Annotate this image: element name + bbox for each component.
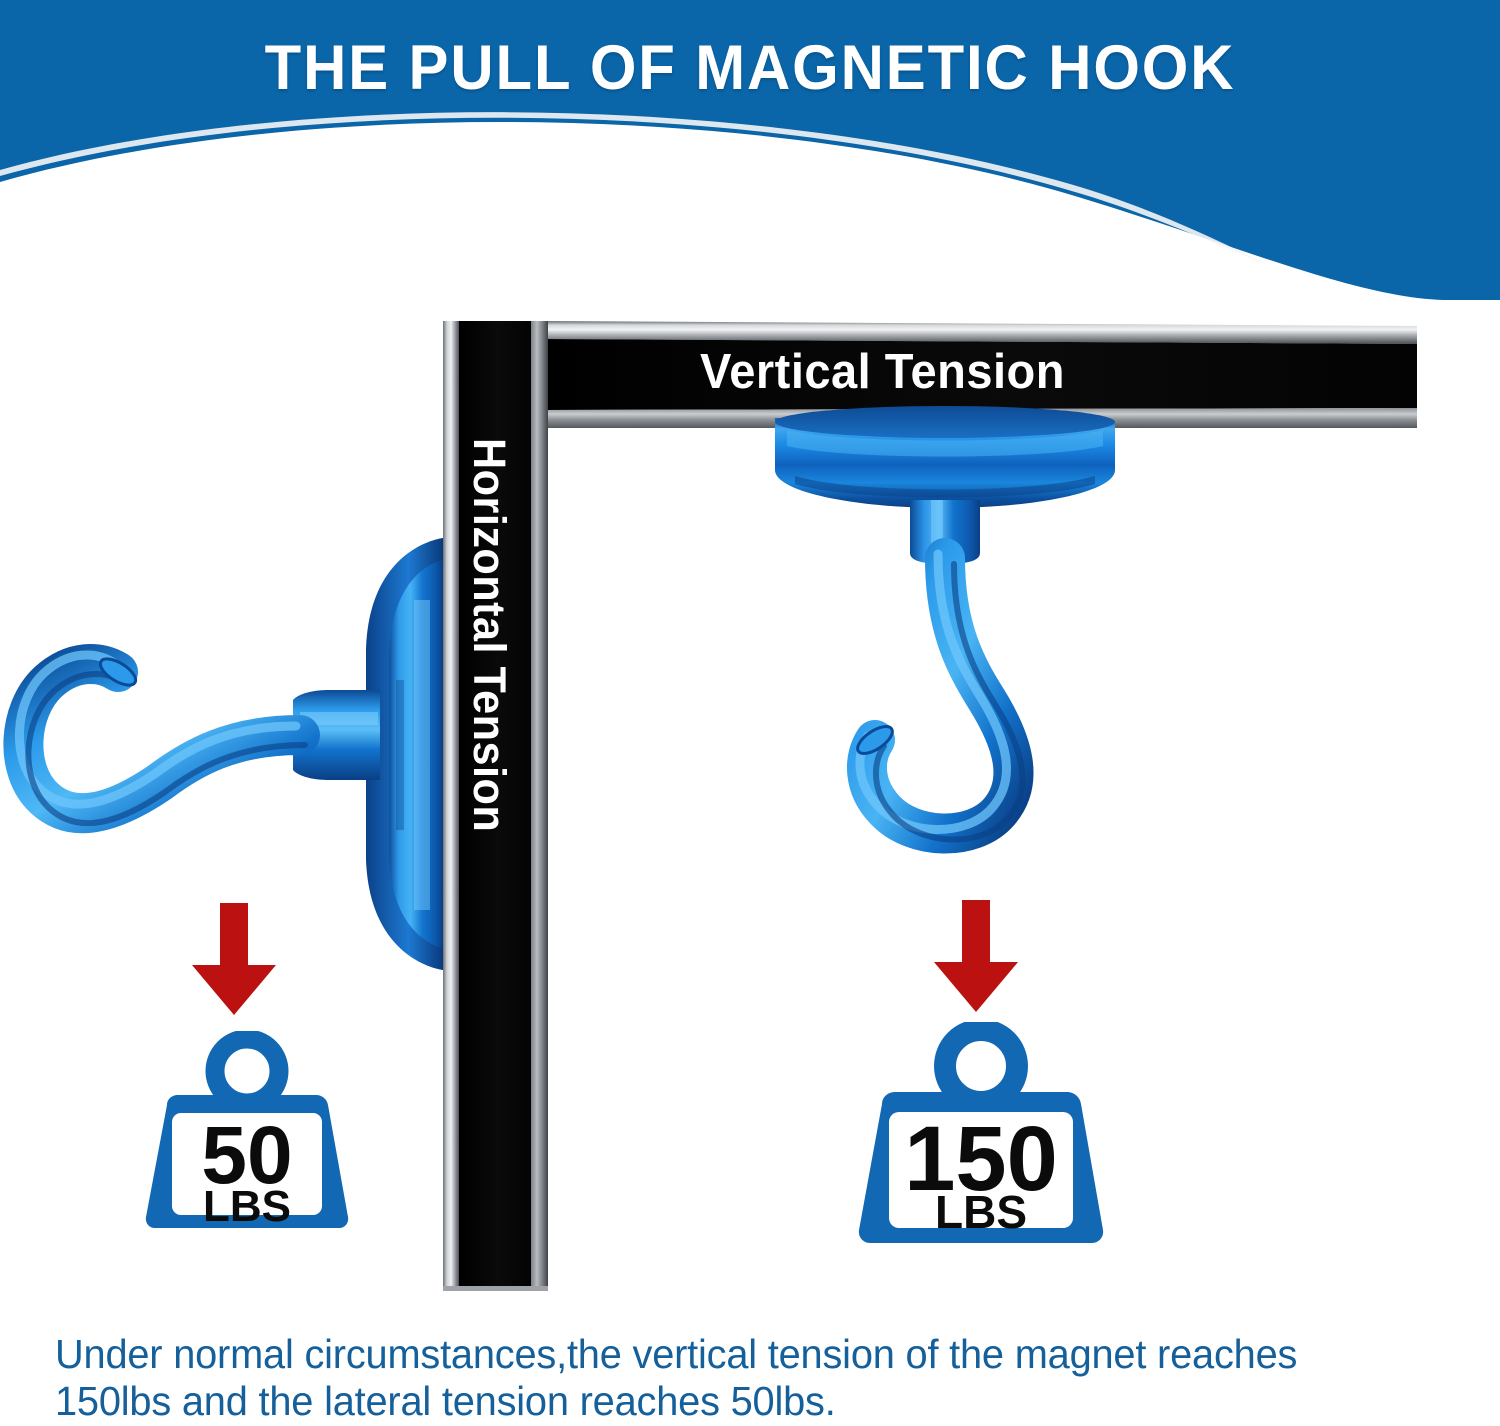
infographic-page: THE PULL OF MAGNETIC HOOK — [0, 0, 1500, 1426]
horizontal-tension-label: Horizontal Tension — [463, 438, 515, 832]
arrow-vertical-load-icon — [928, 900, 1024, 1018]
vertical-beam-bottom-cap — [443, 1286, 548, 1291]
weight-unit: LBS — [203, 1182, 291, 1231]
vertical-beam-right-edge — [531, 321, 548, 1290]
vertical-magnet-disc — [775, 406, 1115, 508]
weight-badge-vertical: 150 LBS — [852, 1022, 1110, 1270]
weight-handle-icon — [215, 1039, 279, 1103]
vertical-tension-label: Vertical Tension — [700, 344, 1065, 400]
vertical-magnetic-hook — [735, 400, 1155, 870]
vertical-hook-curve — [853, 554, 1022, 840]
weight-handle-icon — [945, 1030, 1017, 1102]
weight-unit: LBS — [935, 1186, 1027, 1238]
arrow-horizontal-load-icon — [186, 903, 282, 1021]
horizontal-hook-curve — [19, 654, 305, 823]
caption-text: Under normal circumstances,the vertical … — [55, 1331, 1408, 1425]
weight-badge-horizontal: 50 LBS — [139, 1031, 355, 1253]
